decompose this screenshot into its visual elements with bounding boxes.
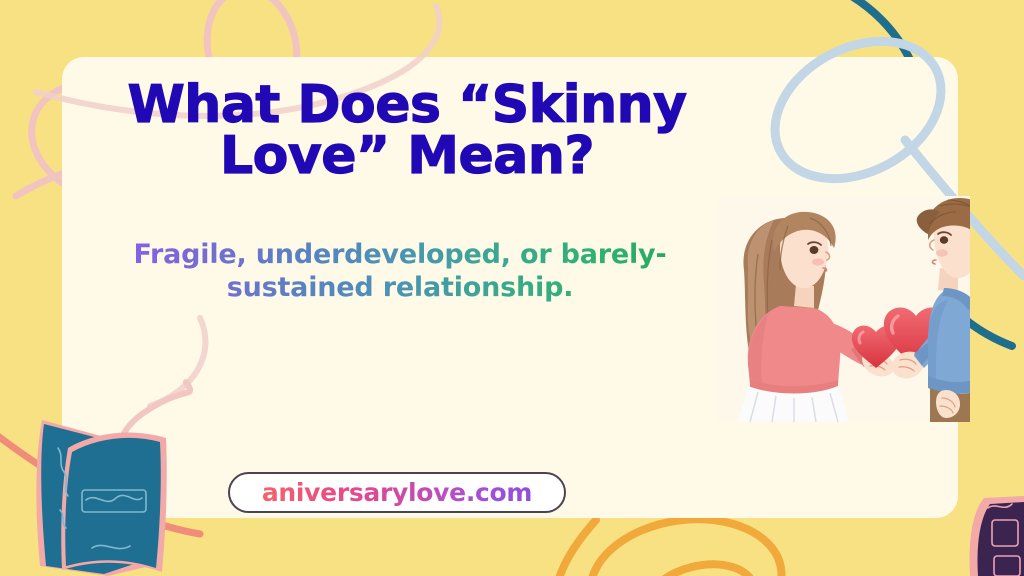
page-subtitle: Fragile, underdeveloped, or barely-susta… [90,182,680,305]
couple-illustration [718,196,970,422]
website-url-text: aniversarylove.com [262,478,532,507]
website-url-badge[interactable]: aniversarylove.com [228,472,566,513]
poster-canvas: What Does “Skinny Love” Mean? Fragile, u… [0,0,1024,576]
page-title: What Does “Skinny Love” Mean? [90,80,692,182]
text-block: What Does “Skinny Love” Mean? Fragile, u… [90,80,690,305]
